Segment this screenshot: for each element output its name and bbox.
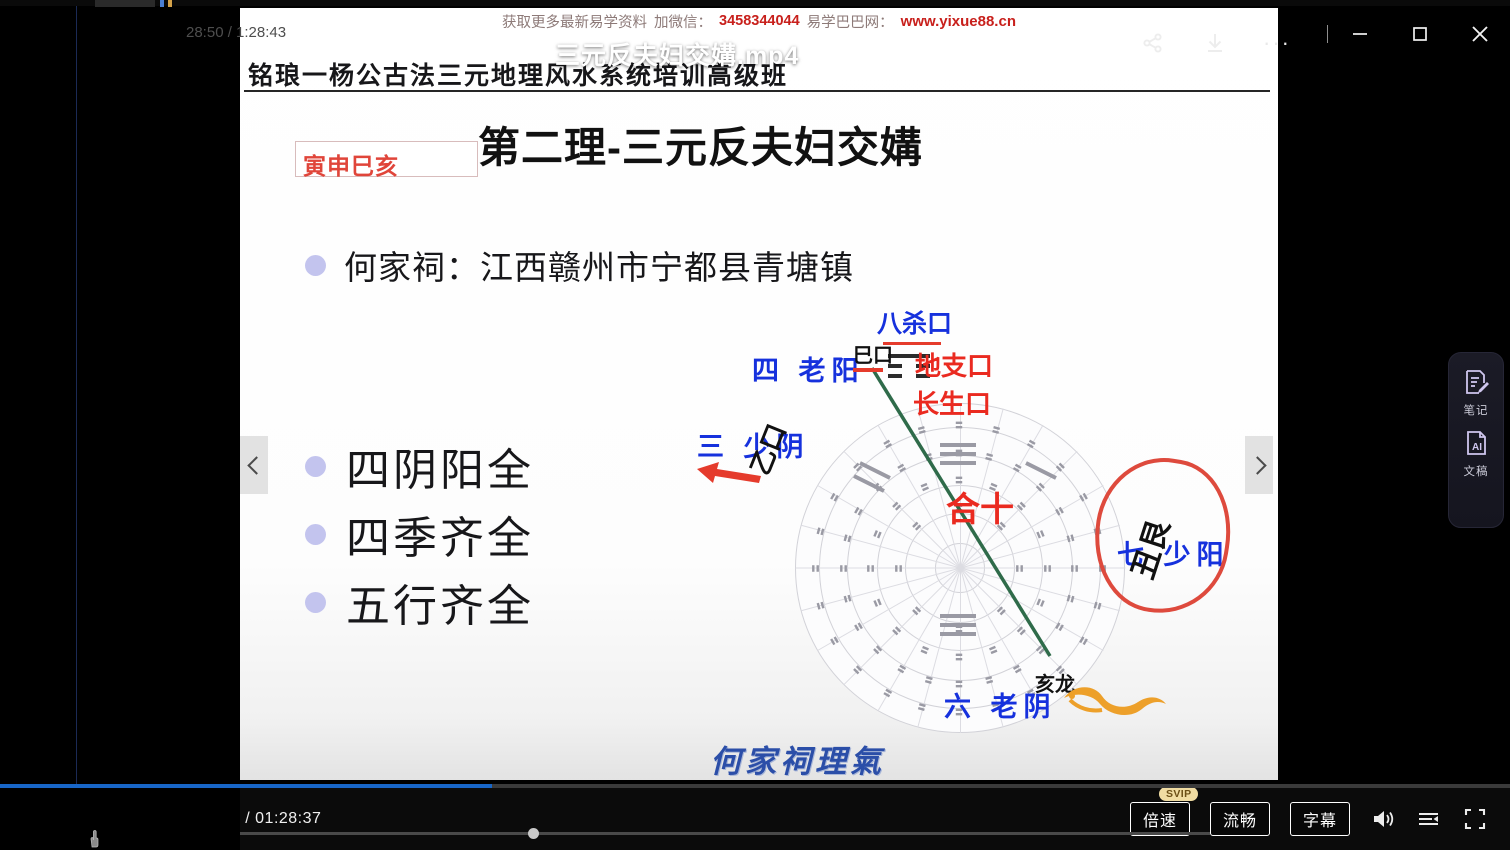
slide-footer-seal: 何家祠理氣	[710, 736, 885, 780]
sidebar-item-notes[interactable]: 笔记	[1448, 367, 1504, 418]
ad-text-1: 获取更多最新易学资料	[502, 11, 647, 32]
playback-speed-button[interactable]: SVIP 倍速	[1130, 802, 1190, 836]
point-text: 五行齐全	[346, 570, 534, 634]
list-item: 四季齐全	[305, 500, 534, 568]
list-item: 四阴阳全	[305, 432, 534, 500]
maximize-icon	[1410, 24, 1430, 44]
annotation-si-laoyang: 四 老阳	[752, 349, 865, 388]
quality-label: 流畅	[1223, 813, 1257, 830]
caption-divider	[1327, 25, 1328, 43]
share-icon	[1141, 31, 1165, 55]
header-divider	[244, 90, 1270, 92]
slide-prev-button[interactable]	[240, 436, 268, 494]
playback-speed-label: 倍速	[1143, 813, 1177, 830]
compass-glyph: 〓	[1042, 565, 1053, 573]
scrub-slider[interactable]	[95, 832, 1210, 835]
fullscreen-icon	[1462, 806, 1488, 832]
more-options-button[interactable]: ···	[1262, 28, 1292, 58]
scrub-slider-handle[interactable]	[528, 828, 539, 839]
ai-document-icon: AI	[1461, 428, 1491, 458]
media-action-buttons: ···	[1138, 28, 1292, 58]
compass-glyph: 〓	[866, 565, 877, 573]
compass-glyph: 〓	[839, 565, 850, 573]
window-edge-line	[76, 0, 77, 790]
minimize-button[interactable]	[1330, 8, 1390, 60]
maximize-button[interactable]	[1390, 8, 1450, 60]
hand-cursor	[88, 830, 102, 848]
chevron-right-icon	[1248, 456, 1266, 474]
bullet-icon	[305, 524, 326, 545]
right-tool-sidebar: 笔记 AI 文稿	[1448, 352, 1504, 528]
video-title-overlay: 三元反夫妇交媾.mp4	[555, 36, 799, 72]
sidebar-item-notes-label: 笔记	[1464, 402, 1489, 418]
tag-box: 寅申巳亥	[295, 141, 478, 177]
compass-glyph: 〓	[955, 651, 963, 662]
ad-wechat-number: 3458344044	[719, 13, 800, 29]
quality-button[interactable]: 流畅	[1210, 802, 1270, 836]
lecture-slide: 获取更多最新易学资料 加微信： 3458344044 易学巴巴网： www.yi…	[240, 8, 1278, 780]
download-icon	[1203, 31, 1227, 55]
subtitle-button[interactable]: 字幕	[1290, 802, 1350, 836]
background-tab-3	[168, 0, 172, 7]
list-item: 五行齐全	[305, 568, 534, 636]
compass-glyph: 〓	[955, 420, 963, 431]
annotation-heshi: 合十	[946, 482, 1014, 531]
window-buttons	[1325, 8, 1510, 60]
point-text: 四季齐全	[346, 502, 534, 566]
bullet-icon	[305, 456, 326, 477]
control-bar-left-shade	[0, 788, 240, 850]
compass-glyph: 〓	[955, 448, 963, 459]
share-button[interactable]	[1138, 28, 1168, 58]
point-list: 四阴阳全 四季齐全 五行齐全	[305, 432, 534, 636]
red-arrow-annotation	[695, 460, 765, 486]
download-button[interactable]	[1200, 28, 1230, 58]
ad-text-2: 加微信：	[654, 11, 712, 32]
playlist-button[interactable]	[1416, 806, 1442, 832]
point-text: 四阴阳全	[346, 434, 534, 498]
compass-glyph: 〓	[955, 623, 963, 634]
compass-glyph: 〓	[1069, 565, 1080, 573]
compass-glyph: 〓	[811, 565, 822, 573]
window-left-gutter	[0, 0, 76, 790]
background-tab-2	[160, 0, 164, 7]
more-icon: ···	[1263, 38, 1291, 48]
compass-glyph: 〓	[894, 565, 905, 573]
playlist-icon	[1416, 806, 1442, 832]
browser-tabstrip-sliver	[0, 0, 1510, 6]
address-text: 何家祠：江西赣州市宁都县青塘镇	[344, 241, 854, 289]
ghost-time-overlay: 28:50 / 1:28:43	[186, 24, 286, 41]
fullscreen-button[interactable]	[1462, 806, 1488, 832]
chevron-left-icon	[247, 456, 265, 474]
video-stage[interactable]: 获取更多最新易学资料 加微信： 3458344044 易学巴巴网： www.yi…	[240, 8, 1278, 780]
compass-glyph: 〓	[1014, 565, 1025, 573]
minimize-icon	[1350, 24, 1370, 44]
volume-button[interactable]	[1370, 806, 1396, 832]
bullet-icon	[305, 592, 326, 613]
annotation-changshengkou: 长生口	[913, 384, 991, 421]
svip-badge: SVIP	[1159, 787, 1199, 801]
annotation-sikou: 巳口	[853, 346, 893, 366]
video-player-window: 获取更多最新易学资料 加微信： 3458344044 易学巴巴网： www.yi…	[0, 0, 1510, 850]
ad-text-3: 易学巴巴网：	[807, 11, 894, 32]
slide-title: 第二理-三元反夫妇交媾	[478, 114, 923, 175]
dragon-graphic	[1060, 678, 1170, 723]
bullet-icon	[305, 255, 326, 276]
duration: 01:28:37	[255, 810, 321, 827]
subtitle-label: 字幕	[1303, 813, 1337, 830]
close-icon	[1469, 23, 1491, 45]
tag-label: 寅申巳亥	[303, 147, 399, 181]
address-row: 何家祠：江西赣州市宁都县青塘镇	[305, 241, 854, 289]
background-tab-1	[95, 0, 155, 7]
ad-website: www.yixue88.cn	[901, 13, 1016, 30]
svg-text:AI: AI	[1472, 442, 1482, 453]
note-edit-icon	[1461, 367, 1491, 397]
sidebar-item-document[interactable]: AI 文稿	[1448, 428, 1504, 479]
time-separator: /	[245, 810, 250, 827]
ad-banner: 获取更多最新易学资料 加微信： 3458344044 易学巴巴网： www.yi…	[240, 8, 1278, 34]
volume-icon	[1370, 806, 1396, 832]
slide-next-button[interactable]	[1245, 436, 1273, 494]
sidebar-item-document-label: 文稿	[1464, 463, 1489, 479]
annotation-dizhikou: 地支口	[915, 346, 993, 383]
close-button[interactable]	[1450, 8, 1510, 60]
annotation-bashakou: 八杀口	[877, 304, 952, 340]
